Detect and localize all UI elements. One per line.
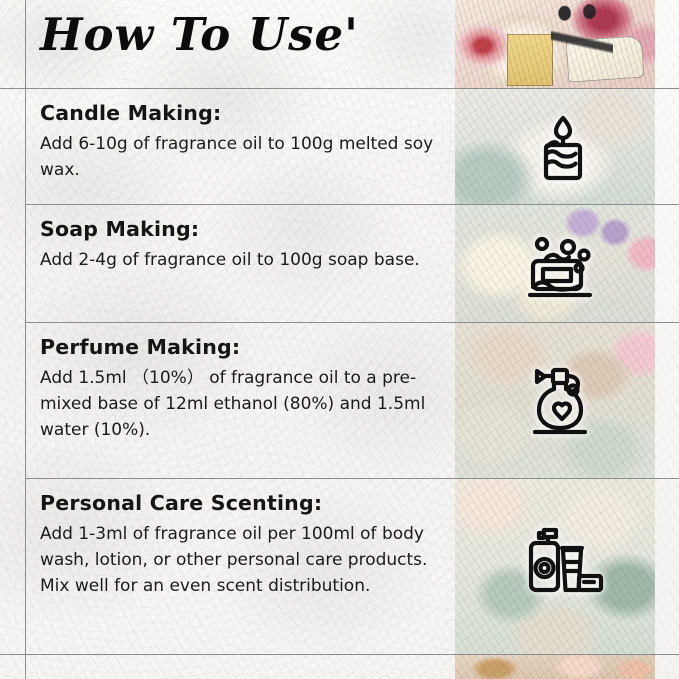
section-candle-making: Candle Making: Add 6-10g of fragrance oi… <box>40 101 440 184</box>
divider-bottom <box>0 654 679 655</box>
photo-band-roses-scissors <box>455 0 655 88</box>
section-soap-making: Soap Making: Add 2-4g of fragrance oil t… <box>40 217 440 274</box>
section-body-perfume-making: Add 1.5ml （10%） of fragrance oil to a pr… <box>40 366 440 443</box>
section-heading-soap-making: Soap Making: <box>40 217 440 241</box>
section-perfume-making: Perfume Making: Add 1.5ml （10%） of fragr… <box>40 335 440 443</box>
candle-icon <box>515 105 611 191</box>
right-margin-texture <box>655 0 679 679</box>
section-body-personal-care-scenting: Add 1-3ml of fragrance oil per 100ml of … <box>40 522 440 599</box>
photo-ink-texture <box>455 654 655 679</box>
photo-band-footer <box>455 654 655 679</box>
divider-title <box>0 88 679 89</box>
section-body-soap-making: Add 2-4g of fragrance oil to 100g soap b… <box>40 248 440 274</box>
section-personal-care-scenting: Personal Care Scenting: Add 1-3ml of fra… <box>40 491 440 599</box>
cosmetic-bottles-icon <box>515 519 611 605</box>
vertical-rule-left <box>25 0 26 679</box>
photo-ink-texture <box>455 0 655 88</box>
divider-perfume <box>25 478 679 479</box>
divider-candle <box>25 204 679 205</box>
how-to-use-infographic: How To Use' Candle Making: Add 6-10g of … <box>0 0 679 679</box>
section-heading-perfume-making: Perfume Making: <box>40 335 440 359</box>
section-heading-personal-care-scenting: Personal Care Scenting: <box>40 491 440 515</box>
section-body-candle-making: Add 6-10g of fragrance oil to 100g melte… <box>40 132 440 184</box>
right-margin-panel <box>655 0 679 679</box>
perfume-bottle-icon <box>515 358 611 444</box>
page-title: How To Use' <box>40 8 359 61</box>
soap-bar-icon <box>515 229 611 315</box>
divider-soap <box>25 322 679 323</box>
section-heading-candle-making: Candle Making: <box>40 101 440 125</box>
